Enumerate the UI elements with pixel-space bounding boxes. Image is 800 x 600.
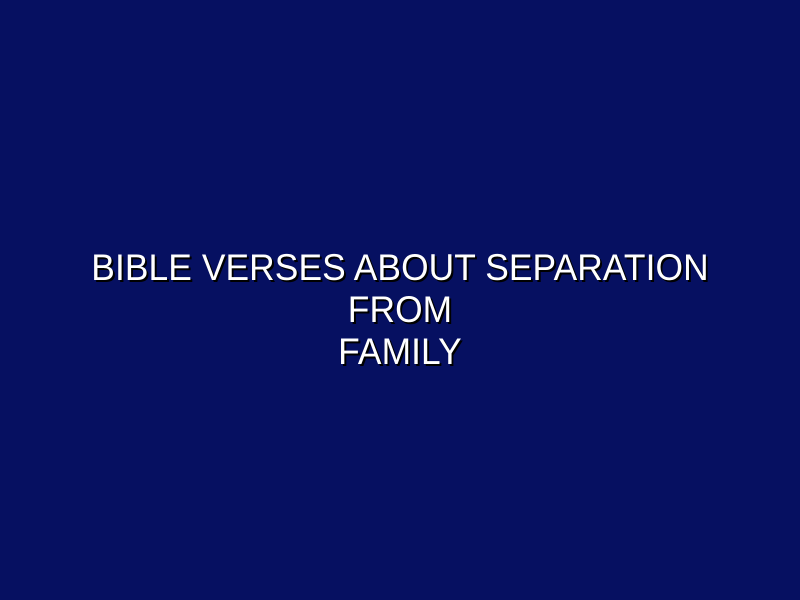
page-title-line-1: BIBLE VERSES ABOUT SEPARATION FROM: [45, 247, 756, 331]
page-title-line-2: FAMILY: [45, 331, 756, 373]
headline-block: BIBLE VERSES ABOUT SEPARATION FROM FAMIL…: [0, 0, 800, 373]
page-title: BIBLE VERSES ABOUT SEPARATION FROM FAMIL…: [18, 247, 782, 373]
title-card: BIBLE VERSES ABOUT SEPARATION FROM FAMIL…: [0, 0, 800, 600]
